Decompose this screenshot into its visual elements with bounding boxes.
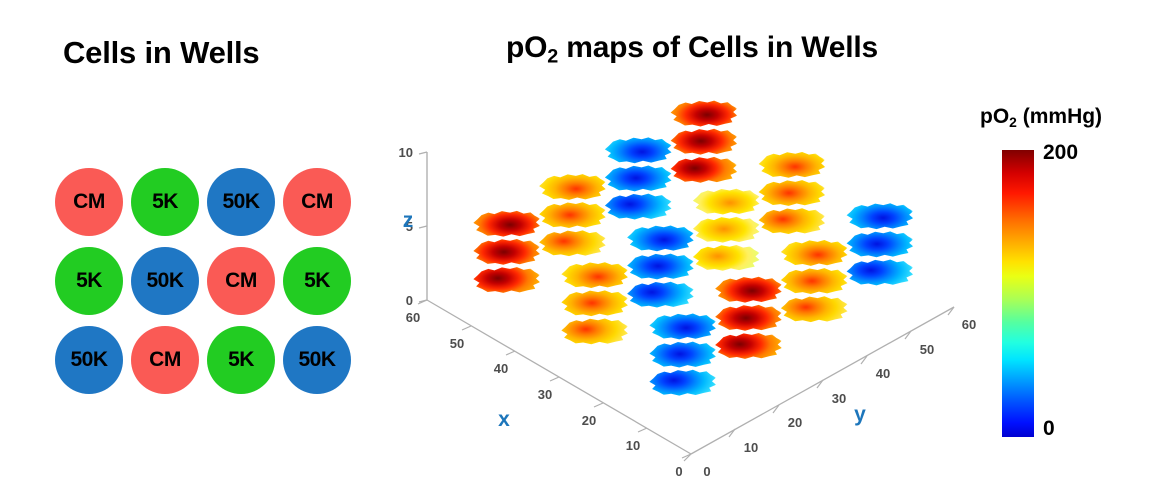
well-circle: CM bbox=[131, 326, 199, 394]
pO2-slice bbox=[780, 238, 848, 268]
pO2-slice bbox=[714, 303, 782, 333]
well-circle: 50K bbox=[283, 326, 351, 394]
pO2-well-blob bbox=[780, 205, 848, 325]
pO2-slice bbox=[692, 186, 760, 216]
pO2-slice bbox=[472, 208, 540, 238]
colorbar-min-label: 0 bbox=[1043, 417, 1055, 441]
colorbar-group: pO2 (mmHg) 200 0 bbox=[975, 105, 1150, 455]
colorbar-title-rest: (mmHg) bbox=[1017, 105, 1102, 128]
pO2-slice bbox=[648, 339, 716, 369]
well-row: 50K CM 5K 50K bbox=[55, 326, 355, 394]
well-label: CM bbox=[73, 190, 105, 214]
pO2-slice bbox=[780, 266, 848, 296]
pO2-well-blob bbox=[648, 279, 716, 399]
well-label: CM bbox=[301, 190, 333, 214]
well-label: 50K bbox=[146, 269, 183, 293]
pO2-slice bbox=[648, 367, 716, 397]
well-circle: 5K bbox=[207, 326, 275, 394]
well-label: 50K bbox=[70, 348, 107, 372]
well-plate-diagram: CM 5K 50K CM 5K 50K CM 5K 50K CM 5K 50K bbox=[55, 168, 355, 403]
colorbar-gradient bbox=[1002, 150, 1034, 437]
pO2-slice bbox=[604, 135, 672, 165]
well-circle: 50K bbox=[131, 247, 199, 315]
pO2-slice bbox=[845, 229, 913, 259]
well-circle: CM bbox=[207, 247, 275, 315]
pO2-slice bbox=[560, 260, 628, 290]
right-title-main: pO bbox=[506, 31, 547, 64]
colorbar-title-subscript: 2 bbox=[1009, 114, 1017, 130]
well-row: 5K 50K CM 5K bbox=[55, 247, 355, 315]
right-title-subscript: 2 bbox=[547, 46, 558, 68]
well-label: 5K bbox=[304, 269, 330, 293]
pO2-slice bbox=[692, 214, 760, 244]
well-circle: CM bbox=[283, 168, 351, 236]
pO2-slice bbox=[714, 274, 782, 304]
pO2-slice bbox=[472, 237, 540, 267]
left-panel-title: Cells in Wells bbox=[63, 35, 259, 71]
pO2-slice bbox=[472, 265, 540, 295]
well-circle: 50K bbox=[55, 326, 123, 394]
pO2-slice bbox=[626, 223, 694, 253]
well-circle: 5K bbox=[55, 247, 123, 315]
pO2-slice bbox=[757, 150, 825, 180]
well-circle: 5K bbox=[131, 168, 199, 236]
colorbar-title-main: pO bbox=[980, 105, 1009, 128]
pO2-slice bbox=[538, 172, 606, 202]
well-label: 50K bbox=[222, 190, 259, 214]
well-label: 5K bbox=[152, 190, 178, 214]
pO2-slice bbox=[714, 331, 782, 361]
right-panel-title: pO2 maps of Cells in Wells bbox=[506, 31, 878, 69]
pO2-slice bbox=[845, 201, 913, 231]
well-circle: 50K bbox=[207, 168, 275, 236]
pO2-slice bbox=[780, 294, 848, 324]
pO2-slice bbox=[560, 288, 628, 318]
well-circle: CM bbox=[55, 168, 123, 236]
pO2-well-blob bbox=[472, 176, 540, 296]
figure-root: Cells in Wells pO2 maps of Cells in Well… bbox=[0, 0, 1153, 500]
pO2-slice bbox=[626, 251, 694, 281]
pO2-slice bbox=[560, 316, 628, 346]
pO2-slice bbox=[648, 311, 716, 341]
pO2-blob-field bbox=[396, 132, 976, 482]
pO2-well-blob bbox=[845, 168, 913, 288]
well-label: CM bbox=[225, 269, 257, 293]
pO2-well-blob bbox=[714, 242, 782, 362]
colorbar-max-label: 200 bbox=[1043, 141, 1078, 165]
colorbar-title: pO2 (mmHg) bbox=[980, 105, 1102, 130]
well-circle: 5K bbox=[283, 247, 351, 315]
pO2-slice bbox=[669, 98, 737, 128]
right-title-rest: maps of Cells in Wells bbox=[558, 31, 878, 64]
well-row: CM 5K 50K CM bbox=[55, 168, 355, 236]
well-label: 5K bbox=[228, 348, 254, 372]
well-label: 50K bbox=[298, 348, 335, 372]
pO2-slice bbox=[538, 200, 606, 230]
pO2-3d-plot: 10 5 0 60 50 40 30 20 10 0 0 10 20 30 40… bbox=[396, 132, 976, 482]
pO2-slice bbox=[669, 126, 737, 156]
well-label: 5K bbox=[76, 269, 102, 293]
pO2-slice bbox=[604, 163, 672, 193]
well-label: CM bbox=[149, 348, 181, 372]
pO2-well-blob bbox=[560, 227, 628, 347]
pO2-slice bbox=[757, 178, 825, 208]
pO2-slice bbox=[845, 257, 913, 287]
